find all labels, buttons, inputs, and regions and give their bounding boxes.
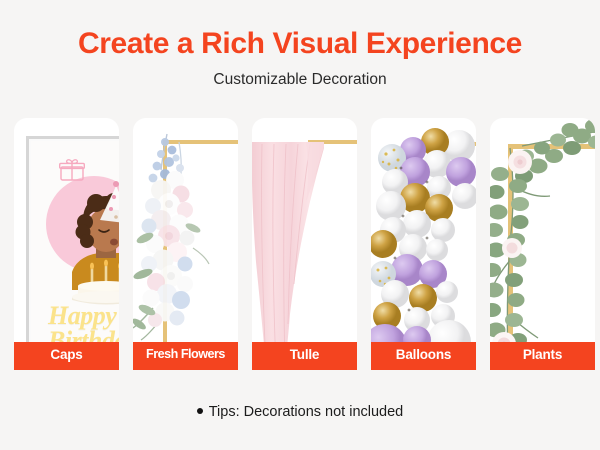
balloon-garland-image [371,124,476,370]
footer-tips-text: Tips: Decorations not included [209,404,404,420]
bullet-icon [197,408,203,414]
pink-tulle-drape-image [252,142,324,370]
floral-swag-image [133,128,231,358]
panel-label-balloons[interactable]: Balloons [371,342,476,370]
tulle-artwork [252,118,357,370]
fresh-flowers-artwork [133,118,238,370]
page-title: Create a Rich Visual Experience [0,28,600,60]
page-subtitle: Customizable Decoration [0,71,600,89]
caps-artwork: Happy Birthday [14,118,119,370]
panel-label-fresh-flowers[interactable]: Fresh Flowers [133,342,238,370]
eucalyptus-vine-image [490,118,595,370]
birthday-cake-image [68,264,119,306]
footer-tips: Tips: Decorations not included [0,404,600,420]
plants-artwork [490,118,595,370]
balloons-artwork [371,118,476,370]
panel-label-caps[interactable]: Caps [14,342,119,370]
gallery-panel-fresh-flowers[interactable]: Fresh Flowers [133,118,238,370]
decoration-gallery: Happy Birthday Caps [14,118,586,386]
panel-label-tulle[interactable]: Tulle [252,342,357,370]
gift-icon [59,158,85,182]
gallery-panel-caps[interactable]: Happy Birthday Caps [14,118,119,370]
gallery-panel-tulle[interactable]: Tulle [252,118,357,370]
header: Create a Rich Visual Experience Customiz… [0,0,600,89]
gallery-panel-balloons[interactable]: Balloons [371,118,476,370]
gallery-panel-plants[interactable]: Plants [490,118,595,370]
panel-label-plants[interactable]: Plants [490,342,595,370]
